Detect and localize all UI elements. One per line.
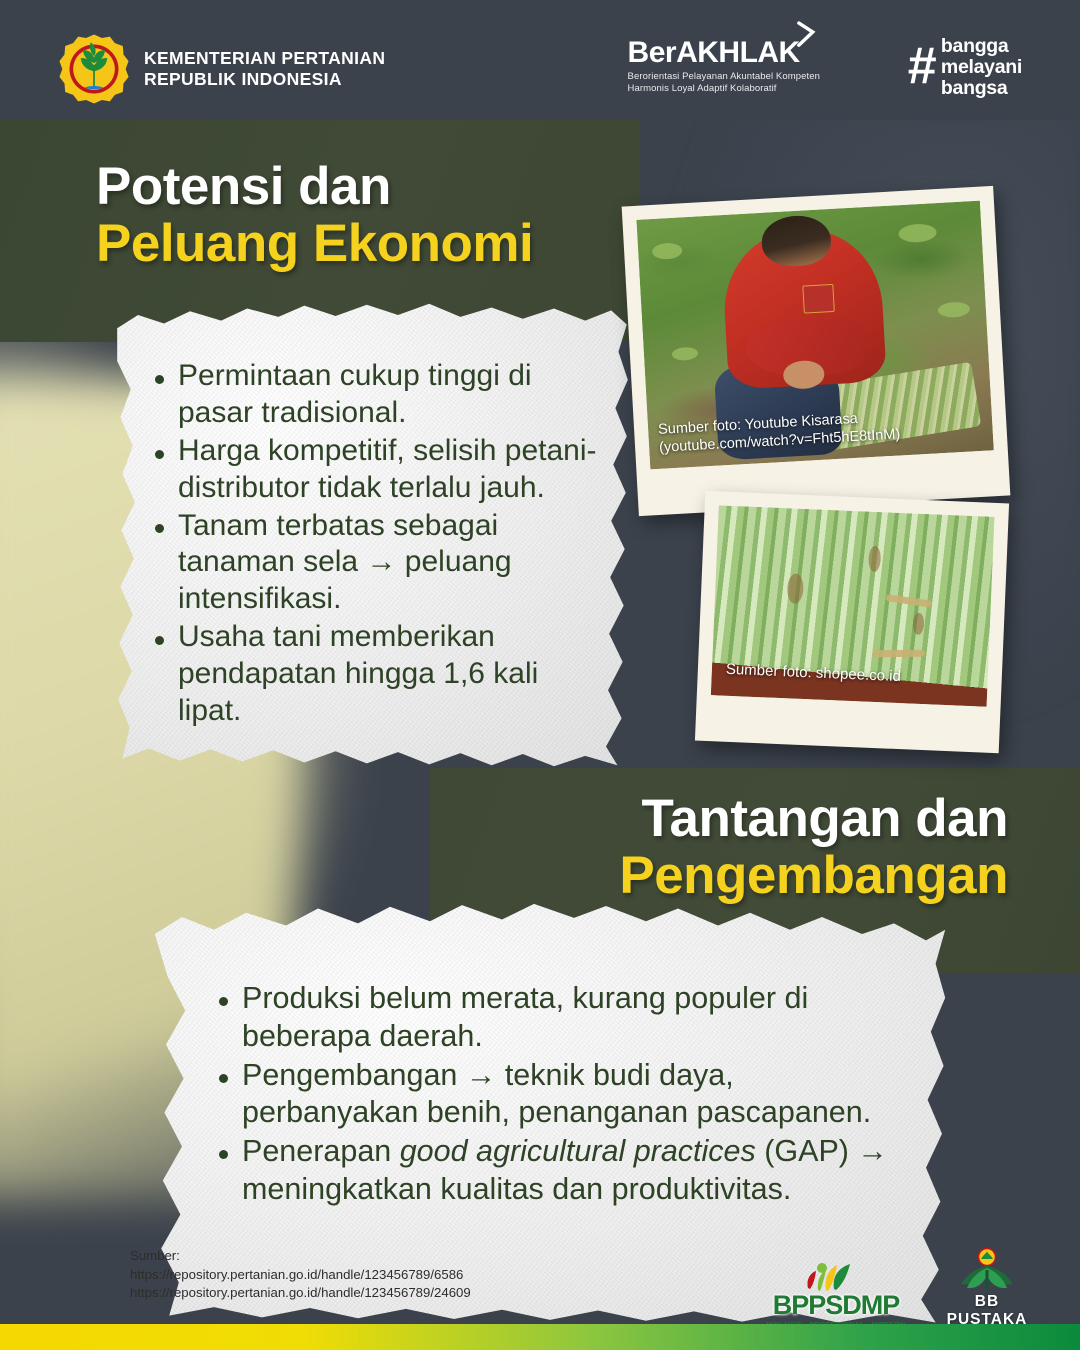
photo-farmer-harvesting: Sumber foto: Youtube Kisarasa (youtube.c… — [636, 201, 993, 470]
photo-shirt-pocket — [802, 284, 834, 313]
berakhlak-sub-line-2: Harmonis Loyal Adaptif Kolaboratif — [628, 83, 820, 95]
bangga-line-3: bangsa — [941, 78, 1022, 99]
section2-heading-white: Tantangan dan — [619, 790, 1008, 847]
source-url-1[interactable]: https://repository.pertanian.go.id/handl… — [130, 1266, 471, 1285]
source-label: Sumber: — [130, 1247, 471, 1266]
berakhlak-logo: BerAKHLAK Berorientasi Pelayanan Akuntab… — [628, 38, 820, 96]
hash-icon: # — [907, 46, 932, 88]
source-references: Sumber: https://repository.pertanian.go.… — [130, 1247, 471, 1303]
berakhlak-sub-line-1: Berorientasi Pelayanan Akuntabel Kompete… — [628, 71, 820, 83]
bbpustaka-book-icon — [934, 1248, 1040, 1292]
section1-heading: Potensi dan Peluang Ekonomi — [96, 158, 533, 272]
bbpustaka-logo: BB PUSTAKA — [934, 1248, 1040, 1329]
ministry-logo-block: KEMENTERIAN PERTANIAN REPUBLIK INDONESIA — [58, 33, 385, 105]
section2-bullet-list: Produksi belum merata, kurang populer di… — [212, 980, 912, 1210]
bppsdmp-mark-icon — [766, 1262, 906, 1292]
section1-heading-white: Potensi dan — [96, 158, 533, 215]
ministry-line-2: REPUBLIK INDONESIA — [144, 69, 385, 90]
kementan-seal-icon — [58, 33, 130, 105]
list-item: Produksi belum merata, kurang populer di… — [212, 980, 912, 1056]
list-item: Tanam terbatas sebagai tanaman sela → pe… — [148, 508, 608, 619]
berakhlak-title-text: BerAKHLAK — [628, 36, 800, 69]
bottom-color-strip — [0, 1324, 1080, 1350]
bangga-melayani-bangsa-logo: # bangga melayani bangsa — [907, 36, 1022, 99]
photo-lemongrass-bundles: Sumber foto: shopee.co.id — [711, 505, 995, 706]
bppsdmp-name: BPPSDMP — [766, 1292, 906, 1319]
section2-heading: Tantangan dan Pengembangan — [619, 790, 1008, 904]
section2-heading-yellow: Pengembangan — [619, 847, 1008, 904]
section2-list: Produksi belum merata, kurang populer di… — [212, 980, 912, 1209]
source-url-2[interactable]: https://repository.pertanian.go.id/handl… — [130, 1284, 471, 1303]
footer-logo-group: BPPSDMP INKLUSIF - PROFESIONAL - MODERN … — [766, 1248, 1040, 1329]
list-item: Permintaan cukup tinggi di pasar tradisi… — [148, 358, 608, 432]
gap-pre: Penerapan — [242, 1134, 400, 1168]
gap-italic: good agricultural practices — [400, 1134, 756, 1168]
page-header: KEMENTERIAN PERTANIAN REPUBLIK INDONESIA… — [0, 0, 1080, 120]
berakhlak-check-icon — [792, 21, 818, 54]
section1-list: Permintaan cukup tinggi di pasar tradisi… — [148, 358, 608, 730]
section1-bullet-list: Permintaan cukup tinggi di pasar tradisi… — [148, 358, 608, 731]
list-item: Pengembangan → teknik budi daya, perbany… — [212, 1057, 912, 1133]
bangga-words: bangga melayani bangsa — [941, 36, 1022, 99]
bangga-line-1: bangga — [941, 36, 1022, 57]
list-item: Harga kompetitif, selisih petani-distrib… — [148, 433, 608, 507]
photo-card-farmer: Sumber foto: Youtube Kisarasa (youtube.c… — [622, 186, 1011, 516]
bangga-line-2: melayani — [941, 57, 1022, 78]
list-item: Penerapan good agricultural practices (G… — [212, 1133, 912, 1209]
list-item: Usaha tani memberikan pendapatan hingga … — [148, 619, 608, 730]
photo-card-lemongrass: Sumber foto: shopee.co.id — [695, 491, 1009, 754]
ministry-line-1: KEMENTERIAN PERTANIAN — [144, 48, 385, 69]
ministry-name: KEMENTERIAN PERTANIAN REPUBLIK INDONESIA — [144, 48, 385, 89]
berakhlak-title: BerAKHLAK — [628, 38, 800, 68]
berakhlak-subtitle: Berorientasi Pelayanan Akuntabel Kompete… — [628, 71, 820, 96]
bppsdmp-logo: BPPSDMP INKLUSIF - PROFESIONAL - MODERN — [766, 1262, 906, 1329]
section1-heading-yellow: Peluang Ekonomi — [96, 215, 533, 272]
